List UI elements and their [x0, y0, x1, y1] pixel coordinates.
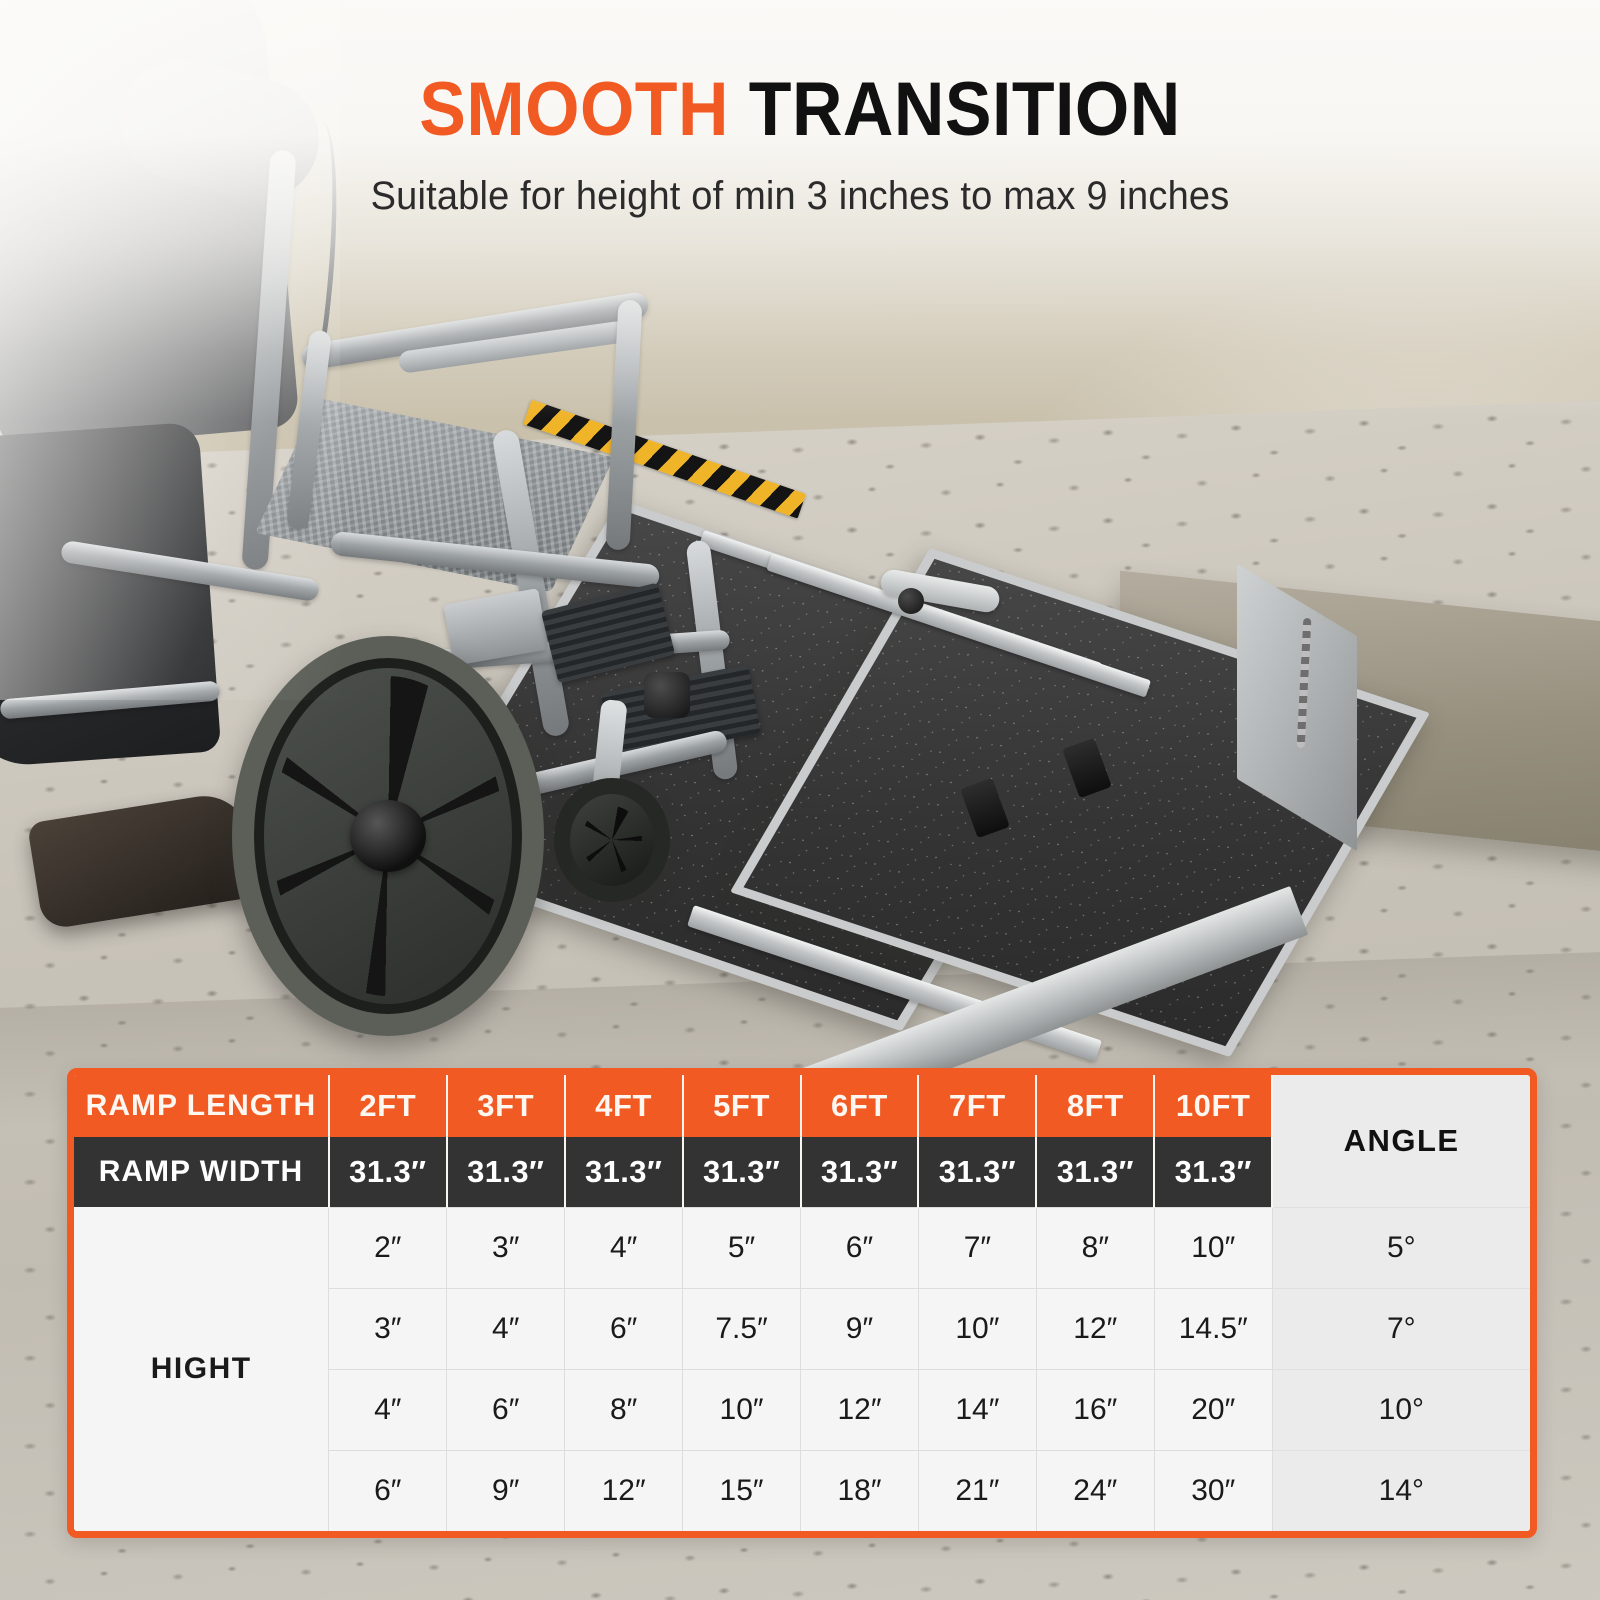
angle-cell: 7° [1272, 1288, 1530, 1369]
height-cell: 12″ [801, 1369, 919, 1450]
height-cell: 8″ [1036, 1207, 1154, 1288]
rear-wheel-hub [350, 800, 426, 872]
width-cell-5: 31.3″ [918, 1137, 1036, 1207]
length-cell-7: 10FT [1154, 1075, 1272, 1137]
height-cell: 15″ [683, 1450, 801, 1531]
width-cell-4: 31.3″ [801, 1137, 919, 1207]
height-cell: 6″ [447, 1369, 565, 1450]
person-shoe [27, 790, 259, 931]
height-cell: 10″ [918, 1288, 1036, 1369]
height-cell: 5″ [683, 1207, 801, 1288]
width-cell-6: 31.3″ [1036, 1137, 1154, 1207]
angle-cell: 10° [1272, 1369, 1530, 1450]
length-cell-1: 3FT [447, 1075, 565, 1137]
height-cell: 8″ [565, 1369, 683, 1450]
marketing-infographic: SMOOTH TRANSITION Suitable for height of… [0, 0, 1600, 1600]
height-cell: 21″ [918, 1450, 1036, 1531]
height-cell: 12″ [565, 1450, 683, 1531]
length-cell-4: 6FT [801, 1075, 919, 1137]
length-cell-3: 5FT [683, 1075, 801, 1137]
header-label-ramp-width: RAMP WIDTH [74, 1137, 329, 1207]
height-cell: 4″ [447, 1288, 565, 1369]
header-row-ramp-length: RAMP LENGTH 2FT 3FT 4FT 5FT 6FT 7FT 8FT … [74, 1075, 1530, 1137]
height-cell: 24″ [1036, 1450, 1154, 1531]
length-cell-0: 2FT [329, 1075, 447, 1137]
page-title: SMOOTH TRANSITION [64, 72, 1536, 148]
height-cell: 9″ [801, 1288, 919, 1369]
height-cell: 10″ [683, 1369, 801, 1450]
height-cell: 7.5″ [683, 1288, 801, 1369]
spec-table-body: HIGHT 2″ 3″ 4″ 5″ 6″ 7″ 8″ 10″ 5° 3″ 4″ … [74, 1207, 1530, 1531]
caster-wheel [554, 778, 670, 902]
width-cell-1: 31.3″ [447, 1137, 565, 1207]
headline-block: SMOOTH TRANSITION Suitable for height of… [0, 72, 1600, 219]
height-cell: 2″ [329, 1207, 447, 1288]
table-row: HIGHT 2″ 3″ 4″ 5″ 6″ 7″ 8″ 10″ 5° [74, 1207, 1530, 1288]
length-cell-6: 8FT [1036, 1075, 1154, 1137]
height-cell: 12″ [1036, 1288, 1154, 1369]
width-cell-2: 31.3″ [565, 1137, 683, 1207]
page-title-plain: TRANSITION [749, 67, 1181, 152]
height-cell: 4″ [565, 1207, 683, 1288]
height-cell: 20″ [1154, 1369, 1272, 1450]
height-cell: 14″ [918, 1369, 1036, 1450]
length-cell-2: 4FT [565, 1075, 683, 1137]
length-cell-5: 7FT [918, 1075, 1036, 1137]
caster-cap [644, 672, 690, 718]
height-cell: 3″ [447, 1207, 565, 1288]
height-cell: 6″ [329, 1450, 447, 1531]
header-label-angle: ANGLE [1272, 1075, 1530, 1207]
ramp-latch-knob [898, 588, 924, 614]
height-cell: 6″ [565, 1288, 683, 1369]
height-cell: 30″ [1154, 1450, 1272, 1531]
height-cell: 4″ [329, 1369, 447, 1450]
height-cell: 18″ [801, 1450, 919, 1531]
spec-table-head: RAMP LENGTH 2FT 3FT 4FT 5FT 6FT 7FT 8FT … [74, 1075, 1530, 1207]
spec-table: RAMP LENGTH 2FT 3FT 4FT 5FT 6FT 7FT 8FT … [67, 1068, 1537, 1538]
height-cell: 7″ [918, 1207, 1036, 1288]
angle-cell: 5° [1272, 1207, 1530, 1288]
height-cell: 16″ [1036, 1369, 1154, 1450]
angle-cell: 14° [1272, 1450, 1530, 1531]
page-subtitle: Suitable for height of min 3 inches to m… [40, 174, 1560, 219]
width-cell-0: 31.3″ [329, 1137, 447, 1207]
width-cell-3: 31.3″ [683, 1137, 801, 1207]
header-label-ramp-length: RAMP LENGTH [74, 1075, 329, 1137]
height-cell: 6″ [801, 1207, 919, 1288]
height-cell: 3″ [329, 1288, 447, 1369]
height-cell: 14.5″ [1154, 1288, 1272, 1369]
width-cell-7: 31.3″ [1154, 1137, 1272, 1207]
row-label-height: HIGHT [74, 1207, 329, 1531]
height-cell: 10″ [1154, 1207, 1272, 1288]
height-cell: 9″ [447, 1450, 565, 1531]
page-title-accent: SMOOTH [419, 67, 729, 152]
wheelchair-footplate-left [541, 583, 675, 684]
spec-table-grid: RAMP LENGTH 2FT 3FT 4FT 5FT 6FT 7FT 8FT … [74, 1075, 1530, 1531]
